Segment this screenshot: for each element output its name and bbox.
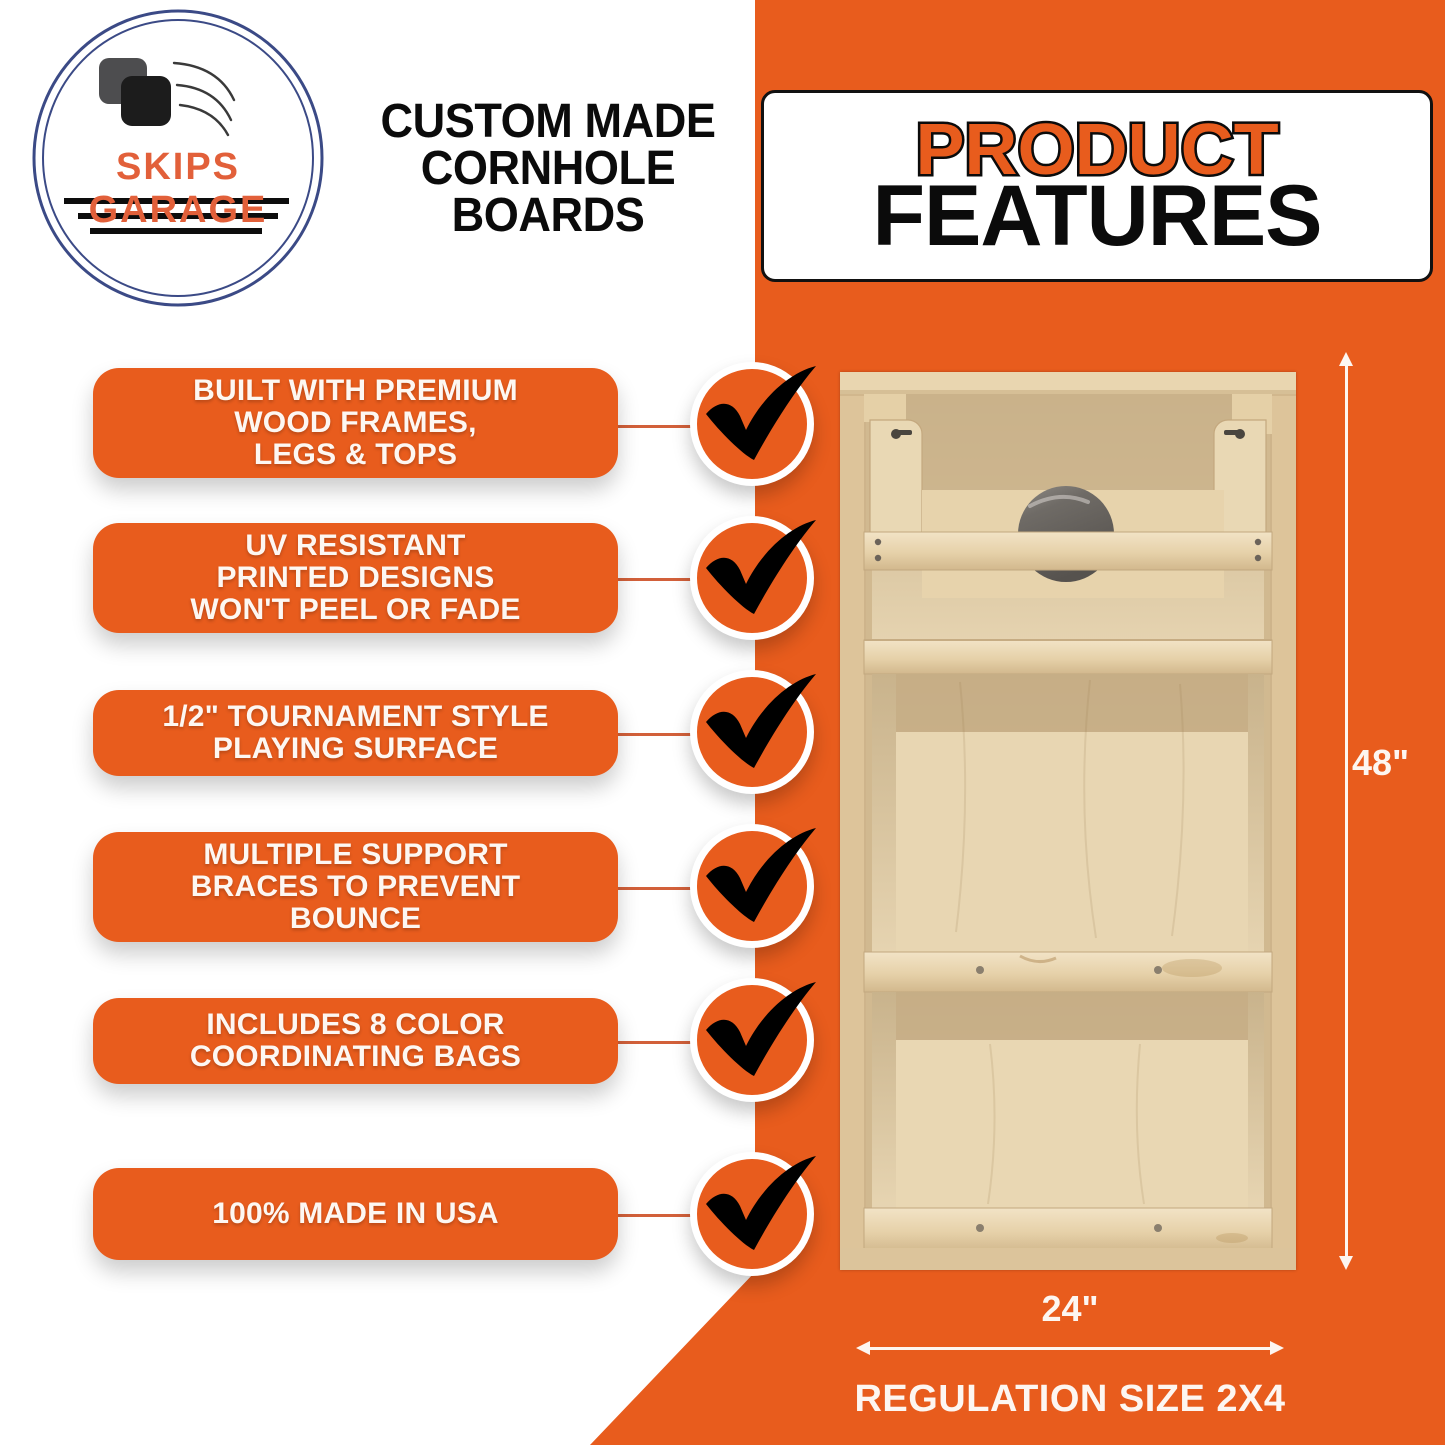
feature-pill-3: 1/2" TOURNAMENT STYLE PLAYING SURFACE xyxy=(93,690,618,776)
logo-wordmark: SKIPS GARAGE xyxy=(22,146,334,232)
page-title-line-1: CUSTOM MADE xyxy=(360,98,736,145)
page-title-line-3: BOARDS xyxy=(360,192,736,239)
check-icon xyxy=(684,650,834,800)
connector-line-6 xyxy=(614,1214,694,1217)
connector-line-1 xyxy=(614,425,694,428)
dimension-line-vertical xyxy=(1345,360,1348,1262)
check-badge-2 xyxy=(690,516,814,640)
feature-pill-3-text: 1/2" TOURNAMENT STYLE PLAYING SURFACE xyxy=(162,701,548,765)
brand-logo: SKIPS GARAGE xyxy=(22,8,334,308)
feature-pill-4: MULTIPLE SUPPORT BRACES TO PREVENT BOUNC… xyxy=(93,832,618,942)
width-dimension-label: 24" xyxy=(856,1288,1284,1330)
height-dimension-label: 48" xyxy=(1352,742,1409,784)
height-dimension-arrow xyxy=(1338,352,1354,1270)
check-icon xyxy=(684,1132,834,1282)
connector-line-4 xyxy=(614,887,694,890)
connector-line-3 xyxy=(614,733,694,736)
product-features-banner: PRODUCT FEATURES xyxy=(761,90,1433,282)
feature-pill-5: INCLUDES 8 COLOR COORDINATING BAGS xyxy=(93,998,618,1084)
cornhole-board-illustration xyxy=(840,372,1296,1270)
feature-pill-4-text: MULTIPLE SUPPORT BRACES TO PREVENT BOUNC… xyxy=(191,839,521,934)
check-icon xyxy=(684,342,834,492)
dimension-line-horizontal xyxy=(864,1347,1276,1350)
page-title: CUSTOM MADE CORNHOLE BOARDS xyxy=(360,98,736,239)
check-badge-1 xyxy=(690,362,814,486)
page-title-line-2: CORNHOLE xyxy=(360,145,736,192)
feature-pill-6: 100% MADE IN USA xyxy=(93,1168,618,1260)
arrow-head-down-icon xyxy=(1339,1256,1353,1270)
feature-pill-2-text: UV RESISTANT PRINTED DESIGNS WON'T PEEL … xyxy=(190,530,520,625)
feature-pill-1-text: BUILT WITH PREMIUM WOOD FRAMES, LEGS & T… xyxy=(193,375,518,470)
check-badge-6 xyxy=(690,1152,814,1276)
check-icon xyxy=(684,496,834,646)
connector-line-2 xyxy=(614,578,694,581)
check-badge-4 xyxy=(690,824,814,948)
feature-pill-6-text: 100% MADE IN USA xyxy=(212,1198,499,1230)
check-icon xyxy=(684,804,834,954)
banner-word-features: FEATURES xyxy=(872,179,1321,255)
feature-pill-1: BUILT WITH PREMIUM WOOD FRAMES, LEGS & T… xyxy=(93,368,618,478)
feature-pill-5-text: INCLUDES 8 COLOR COORDINATING BAGS xyxy=(190,1009,521,1073)
arrow-head-right-icon xyxy=(1270,1341,1284,1355)
check-icon xyxy=(684,958,834,1108)
product-photo-cornhole-board xyxy=(840,372,1296,1270)
width-dimension-arrow xyxy=(856,1340,1284,1356)
regulation-size-note: REGULATION SIZE 2X4 xyxy=(790,1378,1350,1421)
check-badge-5 xyxy=(690,978,814,1102)
feature-pill-2: UV RESISTANT PRINTED DESIGNS WON'T PEEL … xyxy=(93,523,618,633)
infographic-canvas: SKIPS GARAGE CUSTOM MADE CORNHOLE BOARDS… xyxy=(0,0,1445,1445)
connector-line-5 xyxy=(614,1041,694,1044)
check-badge-3 xyxy=(690,670,814,794)
